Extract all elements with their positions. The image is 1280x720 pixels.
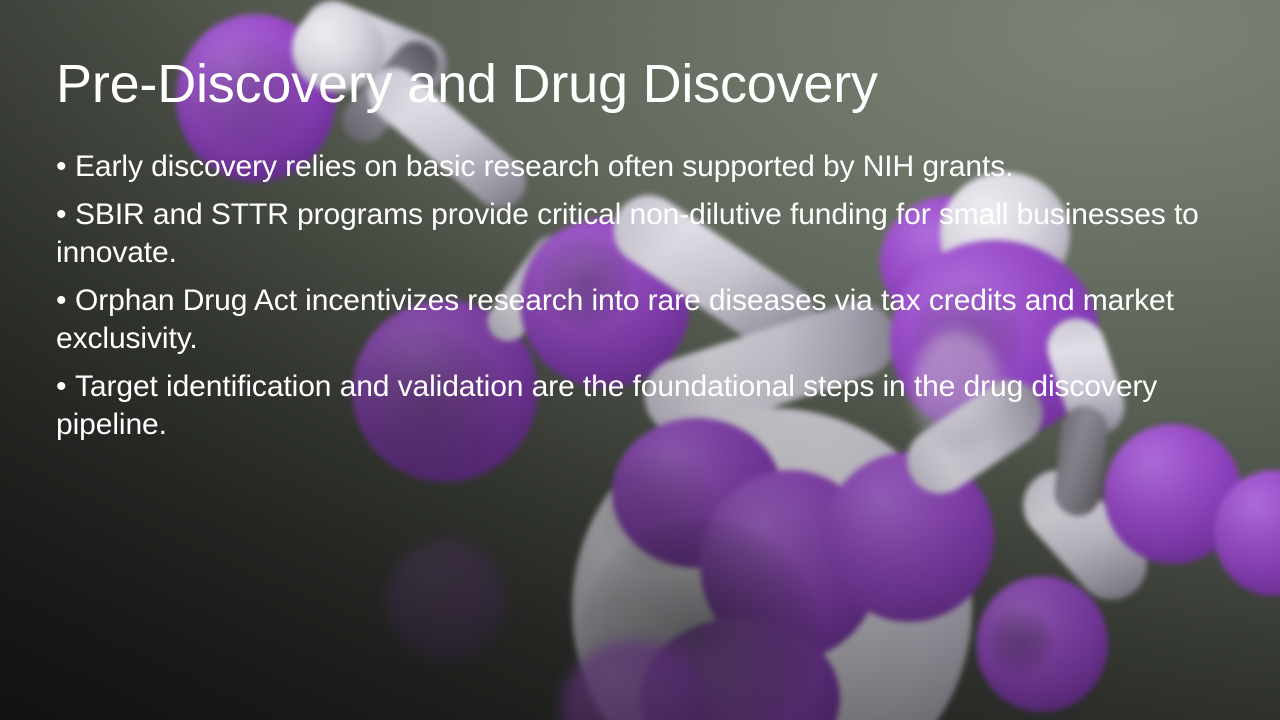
bullet-marker-icon: • [56, 282, 75, 320]
list-item-text: Orphan Drug Act incentivizes research in… [56, 284, 1174, 355]
list-item-text: Target identification and validation are… [56, 370, 1157, 441]
list-item: •SBIR and STTR programs provide critical… [56, 196, 1216, 272]
list-item-text: SBIR and STTR programs provide critical … [56, 198, 1199, 269]
presentation-slide: Pre-Discovery and Drug Discovery •Early … [0, 0, 1280, 720]
slide-content: Pre-Discovery and Drug Discovery •Early … [0, 0, 1280, 720]
bullet-list: •Early discovery relies on basic researc… [56, 148, 1216, 444]
bullet-marker-icon: • [56, 196, 75, 234]
list-item: •Orphan Drug Act incentivizes research i… [56, 282, 1216, 358]
list-item-text: Early discovery relies on basic research… [75, 150, 1013, 183]
list-item: •Target identification and validation ar… [56, 368, 1216, 444]
bullet-marker-icon: • [56, 368, 75, 406]
bullet-marker-icon: • [56, 148, 75, 186]
page-title: Pre-Discovery and Drug Discovery [56, 52, 1196, 116]
list-item: •Early discovery relies on basic researc… [56, 148, 1216, 186]
